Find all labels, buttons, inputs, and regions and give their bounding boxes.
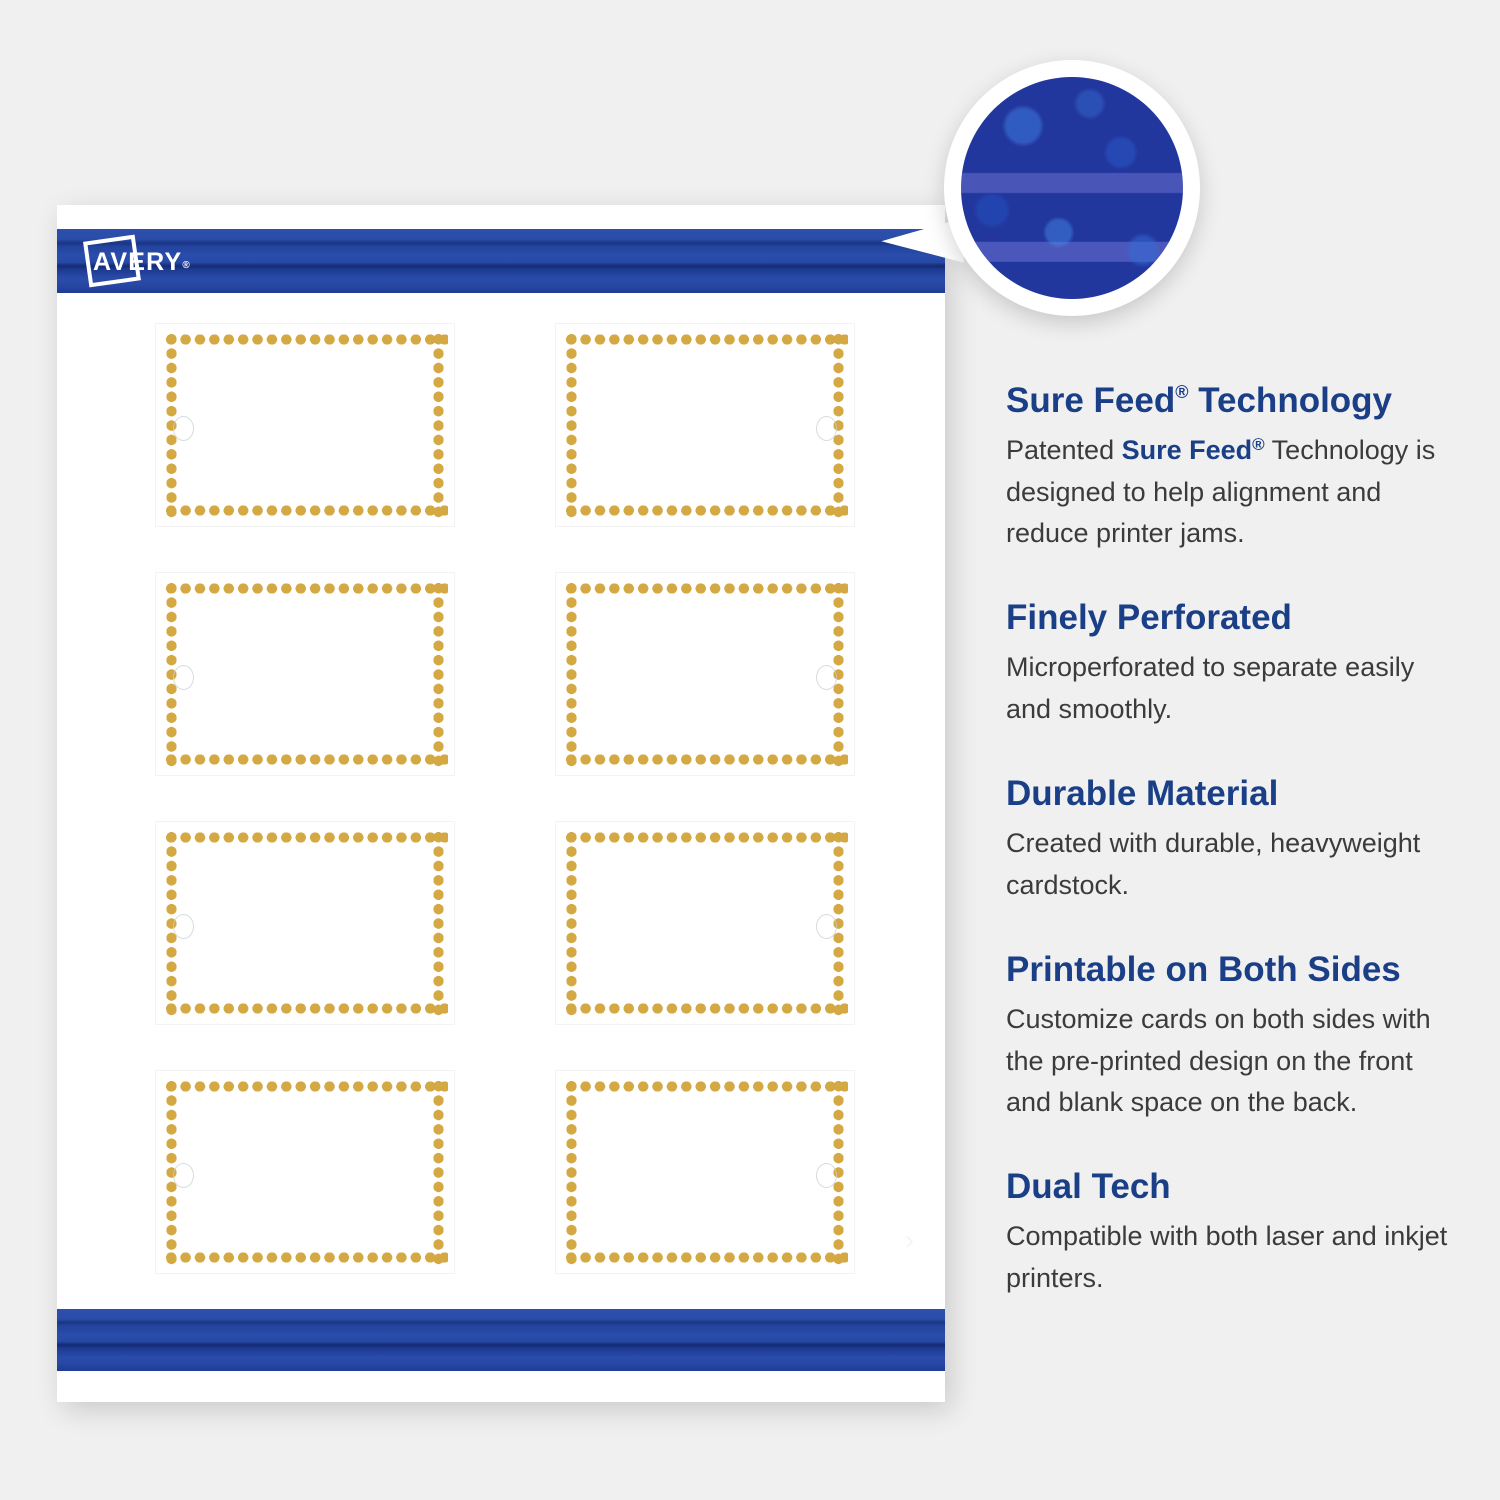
gold-bead-border-right [431,1079,446,1267]
registered-mark-icon: ® [1175,382,1188,402]
feature-sure-feed-technology: Sure Feed® Technology Patented Sure Feed… [1006,380,1458,554]
gold-bead-border-right [431,332,446,520]
feature-title-brand: Sure Feed [1006,381,1175,420]
gold-bead-border-top [564,332,848,347]
gold-bead-border-left [564,1079,579,1267]
sure-feed-bar-bottom [57,1309,945,1371]
callout-lens-detail [961,77,1183,299]
feature-title: Sure Feed® Technology [1006,380,1458,421]
gold-bead-border-left [564,581,579,769]
feature-finely-perforated: Finely Perforated Microperforated to sep… [1006,597,1458,730]
punch-circle-icon [816,1163,837,1188]
gold-bead-border-bottom [164,1250,448,1265]
card-item [555,323,855,527]
punch-circle-icon [173,416,194,441]
punch-circle-icon [173,665,194,690]
card-item [155,323,455,527]
feature-body: Patented Sure Feed® Technology is design… [1006,430,1458,554]
magnifier-callout [944,60,1200,316]
feature-title: Finely Perforated [1006,597,1458,638]
feature-title: Durable Material [1006,773,1458,814]
feature-body: Microperforated to separate easily and s… [1006,647,1458,730]
punch-circle-icon [816,914,837,939]
chevron-watermark-icon: › [905,1227,914,1254]
infographic-canvas: AVERY® [0,0,1500,1500]
registered-mark-icon: ® [182,260,189,271]
gold-bead-border-bottom [564,503,848,518]
card-item [555,572,855,776]
registered-mark-icon: ® [1252,435,1265,454]
gold-bead-border-bottom [564,1250,848,1265]
gold-bead-border-top [564,1079,848,1094]
feature-title: Printable on Both Sides [1006,949,1458,990]
feature-durable-material: Durable Material Created with durable, h… [1006,773,1458,906]
feature-body: Created with durable, heavyweight cardst… [1006,823,1458,906]
gold-bead-border-right [431,581,446,769]
card-grid [155,323,855,1281]
feature-list: Sure Feed® Technology Patented Sure Feed… [1006,380,1458,1299]
avery-wordmark: AVERY® [93,248,190,277]
avery-wordmark-text: AVERY [93,248,182,276]
gold-bead-border-left [564,332,579,520]
gold-bead-border-top [564,830,848,845]
gold-bead-border-bottom [564,1001,848,1016]
feature-dual-tech: Dual Tech Compatible with both laser and… [1006,1166,1458,1299]
gold-bead-border-bottom [164,752,448,767]
feature-title: Dual Tech [1006,1166,1458,1207]
product-sheet: AVERY® [57,205,945,1402]
punch-circle-icon [816,665,837,690]
feature-body-brand-text: Sure Feed [1122,435,1253,465]
feature-title-rest: Technology [1189,381,1393,420]
punch-circle-icon [173,914,194,939]
card-item [555,1070,855,1274]
gold-bead-border-top [164,1079,448,1094]
card-item [555,821,855,1025]
feature-body: Customize cards on both sides with the p… [1006,999,1458,1123]
card-item [155,821,455,1025]
punch-circle-icon [173,1163,194,1188]
gold-bead-border-top [164,332,448,347]
feature-body: Compatible with both laser and inkjet pr… [1006,1216,1458,1299]
gold-bead-border-left [564,830,579,1018]
gold-bead-border-right [431,830,446,1018]
card-item [155,572,455,776]
feature-printable-on-both-sides: Printable on Both Sides Customize cards … [1006,949,1458,1123]
gold-bead-border-bottom [164,1001,448,1016]
feature-body-brand: Sure Feed® [1122,435,1265,465]
card-item [155,1070,455,1274]
gold-bead-border-bottom [564,752,848,767]
avery-logo: AVERY® [79,231,209,291]
punch-circle-icon [816,416,837,441]
gold-bead-border-top [164,830,448,845]
gold-bead-border-bottom [164,503,448,518]
gold-bead-border-top [564,581,848,596]
gold-bead-border-top [164,581,448,596]
feature-body-lead: Patented [1006,435,1122,465]
